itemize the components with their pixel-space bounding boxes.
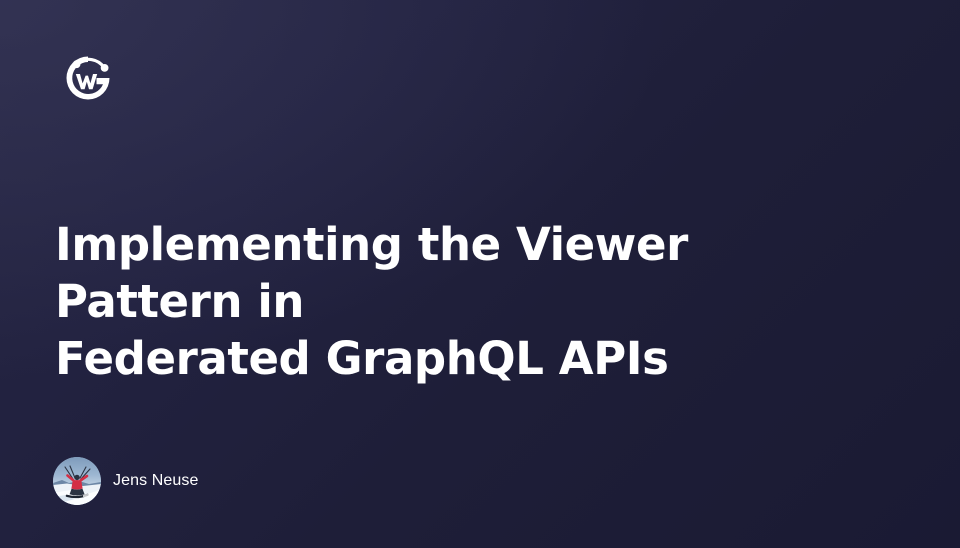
author-name: Jens Neuse (113, 473, 199, 489)
title-block: Implementing the Viewer Pattern in Feder… (55, 216, 875, 387)
wundergraph-logo-icon (58, 48, 118, 108)
avatar (53, 457, 101, 505)
page-title: Implementing the Viewer Pattern in Feder… (55, 216, 875, 387)
blog-cover: Implementing the Viewer Pattern in Feder… (0, 0, 960, 548)
author-byline: Jens Neuse (53, 457, 199, 505)
